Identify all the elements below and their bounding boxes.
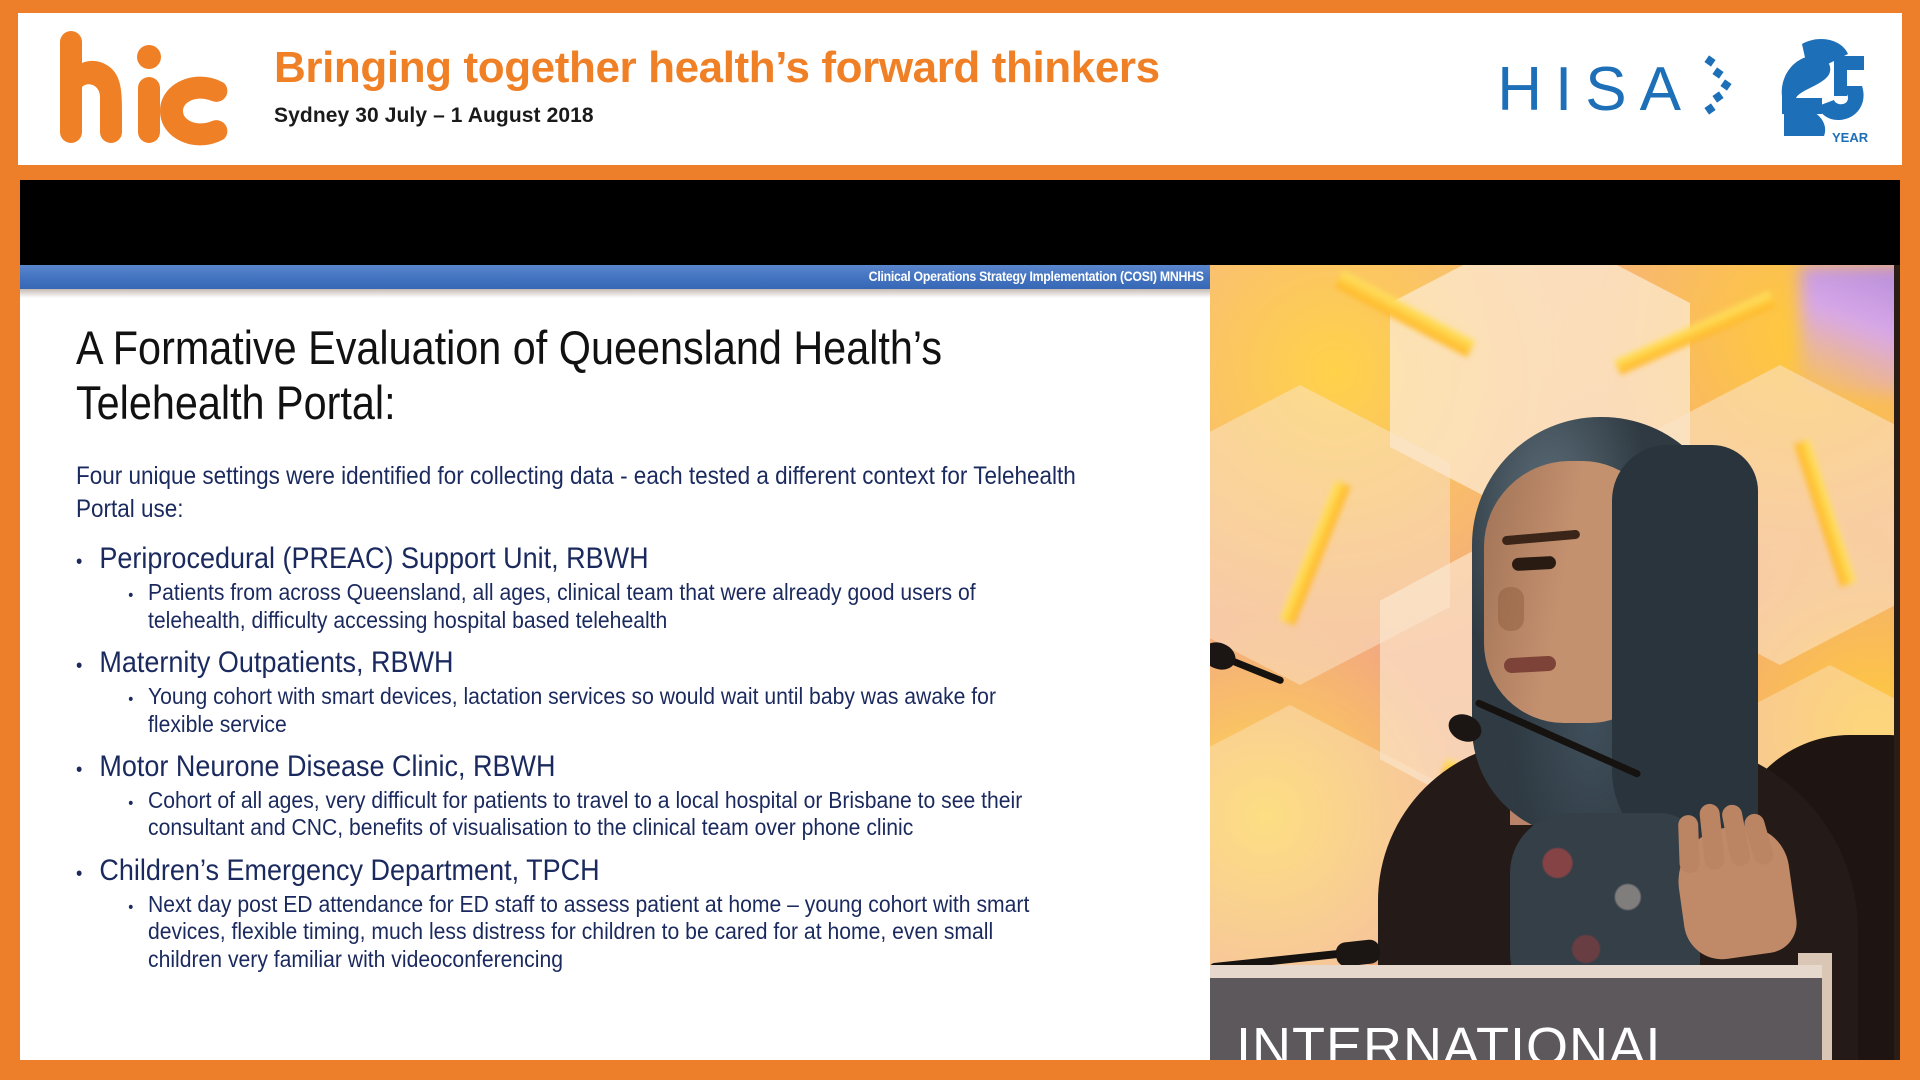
speaker-mouth — [1504, 656, 1557, 674]
bullet-label: Maternity Outpatients, RBWH — [99, 645, 453, 680]
video-right-edge — [1894, 265, 1900, 1060]
slide-title: A Formative Evaluation of Queensland Hea… — [76, 320, 1018, 431]
list-item: • Young cohort with smart devices, lacta… — [76, 683, 1057, 738]
sub-bullet-glyph-icon: • — [128, 900, 148, 916]
list-item: • Next day post ED attendance for ED sta… — [76, 891, 1057, 973]
hic-logo-icon — [52, 29, 232, 149]
speaker-figure — [1210, 265, 1900, 1060]
header-text-block: Bringing together health’s forward think… — [274, 43, 1160, 128]
bullet-glyph-icon: • — [76, 552, 99, 572]
banner-shadow — [20, 289, 1210, 298]
list-item: • Patients from across Queensland, all a… — [76, 579, 1057, 634]
podium: INTERNATIONAL — [1210, 965, 1822, 1060]
25-years-badge-icon: YEARS — [1758, 34, 1868, 146]
sub-bullet-list: • Next day post ED attendance for ED sta… — [76, 891, 1057, 973]
sub-bullet-label: Next day post ED attendance for ED staff… — [148, 891, 1057, 973]
speaker-eye — [1512, 556, 1557, 571]
speaker-nose — [1498, 587, 1524, 631]
list-item: • Cohort of all ages, very difficult for… — [76, 787, 1057, 842]
bullet-glyph-icon: • — [76, 864, 99, 884]
presentation-slide: Clinical Operations Strategy Implementat… — [20, 265, 1210, 1060]
sub-bullet-label: Patients from across Queensland, all age… — [148, 579, 1057, 634]
list-item: • Periprocedural (PREAC) Support Unit, R… — [76, 541, 1057, 634]
speaker-finger — [1678, 815, 1700, 874]
sub-bullet-list: • Young cohort with smart devices, lacta… — [76, 683, 1057, 738]
slide-lead-paragraph: Four unique settings were identified for… — [76, 460, 1120, 525]
cosi-banner-label: Clinical Operations Strategy Implementat… — [869, 268, 1204, 284]
sub-bullet-label: Cohort of all ages, very difficult for p… — [148, 787, 1057, 842]
slide-body: Four unique settings were identified for… — [76, 460, 1057, 973]
sub-bullet-glyph-icon: • — [128, 588, 148, 604]
bullet-list: • Periprocedural (PREAC) Support Unit, R… — [76, 541, 1057, 973]
bullet-label: Periprocedural (PREAC) Support Unit, RBW… — [99, 541, 648, 576]
header-dateline: Sydney 30 July – 1 August 2018 — [274, 104, 1160, 128]
list-item: • Maternity Outpatients, RBWH • Young co… — [76, 645, 1057, 738]
speaker-headscarf-front — [1612, 445, 1758, 865]
bullet-label: Motor Neurone Disease Clinic, RBWH — [99, 749, 555, 784]
sub-bullet-list: • Patients from across Queensland, all a… — [76, 579, 1057, 634]
hisa-wordmark: HISA — [1491, 59, 1694, 121]
video-stage[interactable]: Clinical Operations Strategy Implementat… — [20, 180, 1900, 1060]
list-item: • Motor Neurone Disease Clinic, RBWH • C… — [76, 749, 1057, 842]
hisa-logo-group: HISA YEARS — [1491, 35, 1868, 145]
anniversary-label: YEARS — [1832, 130, 1868, 145]
sub-bullet-label: Young cohort with smart devices, lactati… — [148, 683, 1057, 738]
sub-bullet-glyph-icon: • — [128, 692, 148, 708]
bullet-label: Children’s Emergency Department, TPCH — [99, 853, 599, 888]
sub-bullet-glyph-icon: • — [128, 796, 148, 812]
bullet-glyph-icon: • — [76, 760, 99, 780]
list-item: • Children’s Emergency Department, TPCH … — [76, 853, 1057, 973]
speaker-video[interactable]: INTERNATIONAL — [1210, 265, 1900, 1060]
conference-header: Bringing together health’s forward think… — [18, 13, 1902, 165]
orange-frame: Bringing together health’s forward think… — [0, 0, 1920, 1080]
header-tagline: Bringing together health’s forward think… — [274, 43, 1160, 92]
podium-label: INTERNATIONAL — [1236, 1016, 1677, 1060]
cosi-banner: Clinical Operations Strategy Implementat… — [20, 265, 1210, 289]
sub-bullet-list: • Cohort of all ages, very difficult for… — [76, 787, 1057, 842]
chevron-right-icon — [1702, 47, 1750, 133]
bullet-glyph-icon: • — [76, 656, 99, 676]
